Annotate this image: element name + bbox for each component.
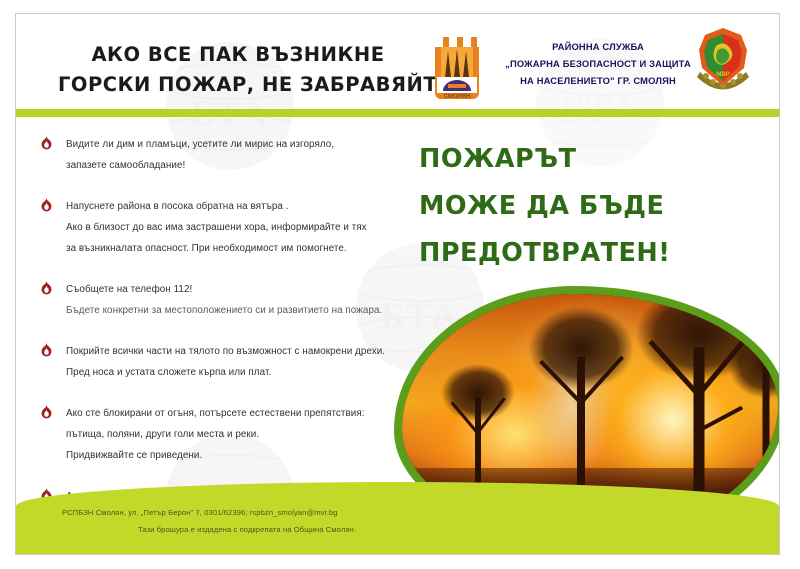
flame-icon xyxy=(40,404,53,419)
organization-title: РАЙОННА СЛУЖБА „ПОЖАРНА БЕЗОПАСНОСТ И ЗА… xyxy=(492,38,704,89)
slogan-line-2: МОЖЕ ДА БЪДЕ xyxy=(419,183,769,230)
tree xyxy=(718,317,778,507)
mvr-logo-label: МВР xyxy=(716,72,729,78)
mvr-emblem-icon: МВР xyxy=(692,24,754,102)
advice-line: за възникналата опасност. При необходимо… xyxy=(66,238,410,259)
advice-line: Покрийте всички части на тялото по възмо… xyxy=(66,341,410,362)
poster-header: АКО ВСЕ ПАК ВЪЗНИКНЕ ГОРСКИ ПОЖАР, НЕ ЗА… xyxy=(16,14,779,109)
flame-icon xyxy=(40,280,53,295)
advice-line: Придвижвайте се приведени. xyxy=(66,445,410,466)
footer-line-2: Тази брошура е издадена с подкрепата на … xyxy=(62,521,432,538)
flame-icon xyxy=(40,342,53,357)
flame-icon xyxy=(40,135,53,150)
smolyan-coat-of-arms-icon: СМОЛЯН xyxy=(429,29,485,101)
headline-line-2: ГОРСКИ ПОЖАР, НЕ ЗАБРАВЯЙТЕ: xyxy=(58,70,418,100)
poster-footer: РСПБЗН Смолян, ул. „Петър Берон" 7, 0301… xyxy=(16,482,779,554)
advice-line: Бъдете конкретни за местоположението си … xyxy=(66,300,410,321)
advice-line: Ако в близост до вас има застрашени хора… xyxy=(66,217,410,238)
flame-icon xyxy=(40,197,53,212)
list-item: Напуснете района в посока обратна на вят… xyxy=(38,196,410,259)
footer-contact: РСПБЗН Смолян, ул. „Петър Берон" 7, 0301… xyxy=(62,504,482,538)
list-item: Видите ли дим и пламъци, усетите ли мири… xyxy=(38,134,410,176)
smolyan-logo-label: СМОЛЯН xyxy=(444,94,471,100)
header-divider xyxy=(16,109,779,117)
advice-line: Пред носа и устата сложете кърпа или пла… xyxy=(66,362,410,383)
page-title: АКО ВСЕ ПАК ВЪЗНИКНЕ ГОРСКИ ПОЖАР, НЕ ЗА… xyxy=(58,40,418,100)
list-item: Покрийте всички части на тялото по възмо… xyxy=(38,341,410,383)
advice-line: Видите ли дим и пламъци, усетите ли мири… xyxy=(66,134,410,155)
advice-line: Напуснете района в посока обратна на вят… xyxy=(66,196,410,217)
org-line-1: РАЙОННА СЛУЖБА xyxy=(492,38,704,55)
org-line-3: НА НАСЕЛЕНИЕТО" ГР. СМОЛЯН xyxy=(492,72,704,89)
advice-line: Ако сте блокирани от огъня, потърсете ес… xyxy=(66,403,410,424)
advice-line: запазете самообладание! xyxy=(66,155,410,176)
org-line-2: „ПОЖАРНА БЕЗОПАСНОСТ И ЗАЩИТА xyxy=(492,55,704,72)
headline-line-1: АКО ВСЕ ПАК ВЪЗНИКНЕ xyxy=(58,40,418,70)
list-item: Съобщете на телефон 112! Бъдете конкретн… xyxy=(38,279,410,321)
advice-line: пътища, поляни, други голи места и реки. xyxy=(66,424,410,445)
poster: БТА БТА БТА БТА АКО ВСЕ ПАК ВЪЗНИКНЕ ГОР… xyxy=(15,13,780,555)
slogan-line-3: ПРЕДОТВРАТЕН! xyxy=(419,230,769,277)
footer-line-1: РСПБЗН Смолян, ул. „Петър Берон" 7, 0301… xyxy=(62,508,338,517)
list-item: Ако сте блокирани от огъня, потърсете ес… xyxy=(38,403,410,466)
slogan: ПОЖАРЪТ МОЖЕ ДА БЪДЕ ПРЕДОТВРАТЕН! xyxy=(419,136,769,277)
slogan-line-1: ПОЖАРЪТ xyxy=(419,136,769,183)
advice-line: Съобщете на телефон 112! xyxy=(66,279,410,300)
